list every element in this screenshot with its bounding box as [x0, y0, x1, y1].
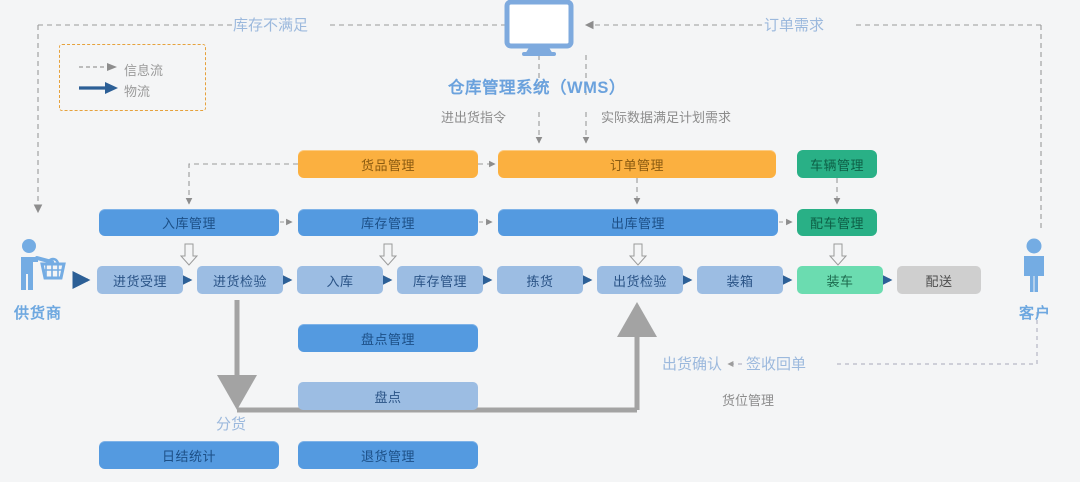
wms-title: 仓库管理系统（WMS） — [448, 74, 626, 98]
edge-goods-to-inbound — [189, 164, 298, 204]
customer-label: 客户 — [1019, 302, 1051, 323]
customer-person-icon — [1012, 238, 1056, 294]
process-delivery[interactable]: 配送 — [897, 266, 981, 294]
module-dispatch-mgmt[interactable]: 配车管理 — [797, 209, 877, 236]
label-in-out-command: 进出货指令 — [441, 107, 506, 126]
module-vehicle-mgmt[interactable]: 车辆管理 — [797, 150, 877, 178]
label-stock-not-enough: 库存不满足 — [233, 14, 308, 35]
monitor-icon — [504, 0, 574, 56]
supplier-person-basket-icon — [12, 238, 70, 294]
hollow-down-arrows — [181, 244, 846, 265]
supplier-label: 供货商 — [14, 302, 62, 323]
label-allocate: 分货 — [216, 413, 246, 434]
module-daily-stats[interactable]: 日结统计 — [99, 441, 279, 469]
module-order-mgmt[interactable]: 订单管理 — [498, 150, 776, 178]
edge-order-demand — [586, 25, 1041, 230]
label-order-demand: 订单需求 — [764, 14, 824, 35]
process-picking[interactable]: 拣货 — [497, 266, 583, 294]
module-return-mgmt[interactable]: 退货管理 — [298, 441, 478, 469]
label-sign-receipt: 签收回单 — [746, 353, 806, 374]
label-ship-confirm: 出货确认 — [662, 353, 722, 374]
process-loading[interactable]: 装车 — [797, 266, 883, 294]
module-outbound-mgmt[interactable]: 出库管理 — [498, 209, 778, 236]
process-putaway[interactable]: 入库 — [297, 266, 383, 294]
module-inbound-mgmt[interactable]: 入库管理 — [99, 209, 279, 236]
process-stock-keeping[interactable]: 库存管理 — [397, 266, 483, 294]
legend-label-logistics: 物流 — [124, 81, 150, 100]
process-ship-inspect[interactable]: 出货检验 — [597, 266, 683, 294]
process-receive-accept[interactable]: 进货受理 — [97, 266, 183, 294]
module-stocktake[interactable]: 盘点 — [298, 382, 478, 410]
process-packing[interactable]: 装箱 — [697, 266, 783, 294]
legend-label-info-flow: 信息流 — [124, 60, 163, 79]
module-goods-mgmt[interactable]: 货品管理 — [298, 150, 478, 178]
module-inventory-mgmt[interactable]: 库存管理 — [298, 209, 478, 236]
dashed-arrow-head — [107, 63, 117, 71]
label-actual-data: 实际数据满足计划需求 — [601, 107, 731, 126]
label-location-mgmt: 货位管理 — [722, 390, 774, 409]
module-stocktake-mgmt[interactable]: 盘点管理 — [298, 324, 478, 352]
process-receive-inspect[interactable]: 进货检验 — [197, 266, 283, 294]
solid-arrow-head — [105, 82, 118, 94]
wms-flow-diagram: 信息流 物流 仓库管理系统（WMS） 库存不满足 订单需求 进出货指令 实际数据… — [0, 0, 1080, 482]
